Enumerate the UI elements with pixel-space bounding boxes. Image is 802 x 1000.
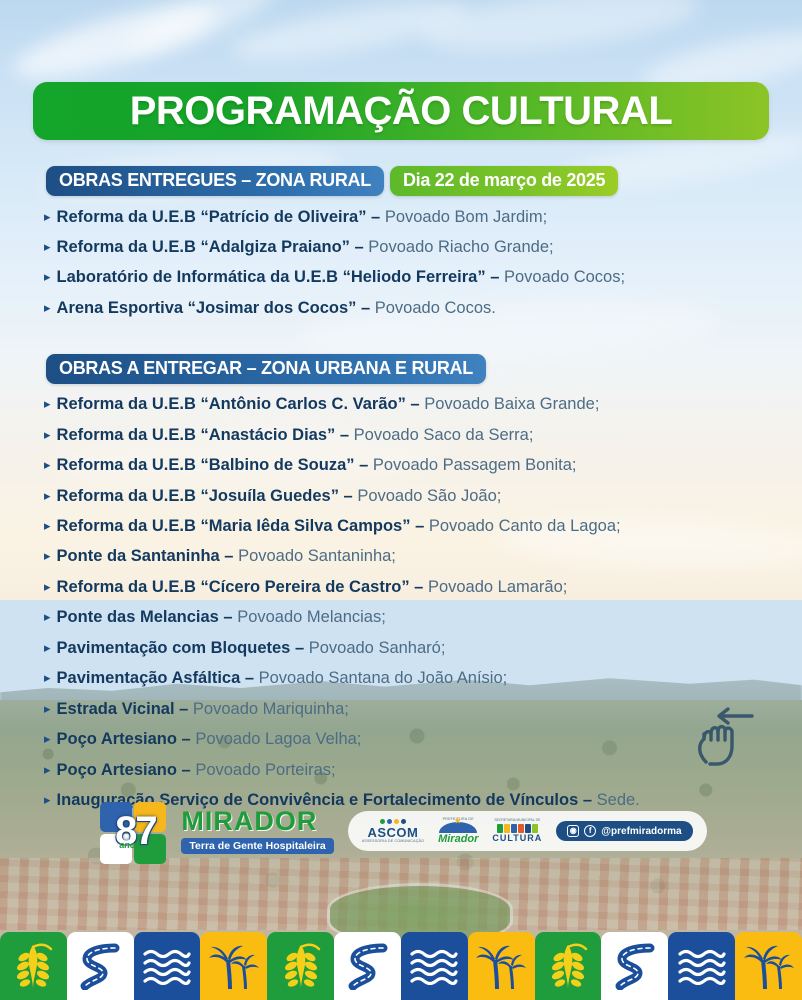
list-item: ▸Pavimentação com Bloquetes – Povoado Sa… xyxy=(44,633,802,663)
list-item-dash: – xyxy=(220,547,238,565)
swoosh-star-icon xyxy=(439,822,477,833)
list-item: ▸Poço Artesiano – Povoado Porteiras; xyxy=(44,755,802,785)
section-header-delivered: OBRAS ENTREGUES – ZONA RURAL Dia 22 de m… xyxy=(0,166,802,196)
list-item: ▸Reforma da U.E.B “Cícero Pereira de Cas… xyxy=(44,572,802,602)
list-item-dash: – xyxy=(339,487,357,505)
list-item-title: Laboratório de Informática da U.E.B “Hel… xyxy=(57,268,486,286)
list-item-location: Povoado Lagoa Velha; xyxy=(195,730,361,748)
road-icon xyxy=(77,942,123,990)
list-item: ▸Arena Esportiva “Josimar dos Cocos” – P… xyxy=(44,293,802,323)
list-item-dash: – xyxy=(356,299,374,317)
bullet-icon: ▸ xyxy=(44,516,51,536)
bottom-icon-stripe xyxy=(0,932,802,1000)
list-item: ▸Reforma da U.E.B “Patrício de Oliveira”… xyxy=(44,202,802,232)
list-item-text: Reforma da U.E.B “Josuíla Guedes” – Povo… xyxy=(57,486,502,507)
list-item-title: Reforma da U.E.B “Patrício de Oliveira” xyxy=(57,208,367,226)
list-item-text: Ponte da Santaninha – Povoado Santaninha… xyxy=(57,546,396,567)
delivered-works-list: ▸Reforma da U.E.B “Patrício de Oliveira”… xyxy=(0,196,802,324)
list-item-text: Laboratório de Informática da U.E.B “Hel… xyxy=(57,267,626,288)
list-item: ▸Reforma da U.E.B “Josuíla Guedes” – Pov… xyxy=(44,481,802,511)
city-tagline: Terra de Gente Hospitaleira xyxy=(181,838,333,854)
list-item: ▸Reforma da U.E.B “Adalgiza Praiano” – P… xyxy=(44,232,802,262)
list-item-title: Reforma da U.E.B “Balbino de Souza” xyxy=(57,456,355,474)
bullet-icon: ▸ xyxy=(44,760,51,780)
list-item-dash: – xyxy=(240,669,258,687)
palm-icon xyxy=(208,942,260,990)
list-item-location: Povoado Passagem Bonita; xyxy=(373,456,577,474)
bullet-icon: ▸ xyxy=(44,607,51,627)
social-handle-text: @prefmiradorma xyxy=(601,826,681,837)
road-icon xyxy=(612,942,658,990)
bullet-icon: ▸ xyxy=(44,298,51,318)
wheat-icon xyxy=(546,941,590,991)
waves-icon xyxy=(677,947,727,985)
ascom-dots-icon xyxy=(380,819,406,824)
bullet-icon: ▸ xyxy=(44,267,51,287)
stripe-tile-road xyxy=(601,932,668,1000)
bullet-icon: ▸ xyxy=(44,729,51,749)
list-item-location: Povoado Porteiras; xyxy=(195,761,335,779)
mirador-city-logo: 87 anos MIRADOR Terra de Gente Hospitale… xyxy=(95,796,333,866)
list-item: ▸Poço Artesiano – Povoado Lagoa Velha; xyxy=(44,725,802,755)
list-item: ▸Ponte da Santaninha – Povoado Santaninh… xyxy=(44,542,802,572)
page-title: PROGRAMAÇÃO CULTURAL xyxy=(130,89,673,134)
cultura-logo: SECRETARIA MUNICIPAL DE CULTURA xyxy=(492,819,542,842)
anniversary-word: anos xyxy=(119,840,140,850)
section-heading-badge: OBRAS ENTREGUES – ZONA RURAL xyxy=(46,166,384,196)
list-item-text: Reforma da U.E.B “Balbino de Souza” – Po… xyxy=(57,455,577,476)
list-item-dash: – xyxy=(335,426,353,444)
list-item-location: Povoado Bom Jardim; xyxy=(385,208,547,226)
list-item-dash: – xyxy=(350,238,368,256)
palm-icon xyxy=(743,942,795,990)
list-item-location: Povoado Canto da Lagoa; xyxy=(429,517,621,535)
list-item-location: Povoado Sanharó; xyxy=(309,639,446,657)
prefeitura-mirador-logo: PREFEITURA DE Mirador xyxy=(438,817,478,845)
ascom-logo: ASCOM ASSESSORIA DE COMUNICAÇÃO xyxy=(362,819,424,844)
list-item-title: Pavimentação Asfáltica xyxy=(57,669,241,687)
list-item-text: Reforma da U.E.B “Anastácio Dias” – Povo… xyxy=(57,425,534,446)
stripe-tile-road xyxy=(334,932,401,1000)
social-handle-badge[interactable]: ◉ f @prefmiradorma xyxy=(556,821,692,841)
list-item-location: Povoado Cocos; xyxy=(504,268,625,286)
stripe-tile-palm xyxy=(735,932,802,1000)
wheat-icon xyxy=(279,941,323,991)
upcoming-works-list: ▸Reforma da U.E.B “Antônio Carlos C. Var… xyxy=(0,384,802,816)
palm-icon xyxy=(475,942,527,990)
list-item: ▸Estrada Vicinal – Povoado Mariquinha; xyxy=(44,694,802,724)
list-item-dash: – xyxy=(406,395,424,413)
partner-logo-strip: ASCOM ASSESSORIA DE COMUNICAÇÃO PREFEITU… xyxy=(348,811,707,851)
title-section: PROGRAMAÇÃO CULTURAL xyxy=(0,0,802,140)
bullet-icon: ▸ xyxy=(44,237,51,257)
list-item-location: Povoado São João; xyxy=(357,487,501,505)
list-item-title: Reforma da U.E.B “Maria Iêda Silva Campo… xyxy=(57,517,411,535)
list-item-dash: – xyxy=(410,578,428,596)
stripe-tile-palm xyxy=(468,932,535,1000)
city-name: MIRADOR xyxy=(181,808,317,835)
list-item-dash: – xyxy=(355,456,373,474)
list-item-text: Reforma da U.E.B “Adalgiza Praiano” – Po… xyxy=(57,237,554,258)
list-item-dash: – xyxy=(177,761,195,779)
list-item-location: Povoado Santaninha; xyxy=(238,547,396,565)
bullet-icon: ▸ xyxy=(44,577,51,597)
bullet-icon: ▸ xyxy=(44,425,51,445)
swipe-left-hand-icon xyxy=(690,706,764,768)
list-item-title: Ponte das Melancias xyxy=(57,608,219,626)
section-heading-badge: OBRAS A ENTREGAR – ZONA URBANA E RURAL xyxy=(46,354,486,384)
bullet-icon: ▸ xyxy=(44,699,51,719)
list-item-title: Poço Artesiano xyxy=(57,730,177,748)
stripe-tile-palm xyxy=(200,932,267,1000)
cultura-subtitle: SECRETARIA MUNICIPAL DE xyxy=(494,819,540,822)
bullet-icon: ▸ xyxy=(44,486,51,506)
list-item: ▸Ponte das Melancias – Povoado Melancias… xyxy=(44,603,802,633)
bullet-icon: ▸ xyxy=(44,455,51,475)
list-item-title: Reforma da U.E.B “Cícero Pereira de Cast… xyxy=(57,578,410,596)
bullet-icon: ▸ xyxy=(44,638,51,658)
list-item-location: Povoado Lamarão; xyxy=(428,578,567,596)
list-item-text: Estrada Vicinal – Povoado Mariquinha; xyxy=(57,699,349,720)
list-item-location: Povoado Riacho Grande; xyxy=(368,238,553,256)
stripe-tile-waves xyxy=(401,932,468,1000)
list-item-text: Reforma da U.E.B “Cícero Pereira de Cast… xyxy=(57,577,568,598)
list-item-title: Reforma da U.E.B “Anastácio Dias” xyxy=(57,426,336,444)
cultura-tiles-icon xyxy=(497,824,538,833)
date-badge: Dia 22 de março de 2025 xyxy=(390,166,618,196)
bullet-icon: ▸ xyxy=(44,546,51,566)
bullet-icon: ▸ xyxy=(44,207,51,227)
list-item-text: Pavimentação Asfáltica – Povoado Santana… xyxy=(57,668,508,689)
ascom-label: ASCOM xyxy=(367,826,418,839)
list-item-location: Povoado Santana do João Anísio; xyxy=(259,669,508,687)
list-item: ▸Laboratório de Informática da U.E.B “He… xyxy=(44,263,802,293)
anniversary-badge: 87 anos xyxy=(95,796,175,866)
cultura-label: CULTURA xyxy=(492,834,542,843)
list-item-dash: – xyxy=(177,730,195,748)
list-item-dash: – xyxy=(486,268,504,286)
list-item-dash: – xyxy=(219,608,237,626)
list-item-title: Poço Artesiano xyxy=(57,761,177,779)
list-item-location: Povoado Cocos. xyxy=(375,299,496,317)
stripe-tile-waves xyxy=(668,932,735,1000)
list-item-text: Pavimentação com Bloquetes – Povoado San… xyxy=(57,638,446,659)
list-item-title: Estrada Vicinal xyxy=(57,700,175,718)
list-item-title: Reforma da U.E.B “Adalgiza Praiano” xyxy=(57,238,350,256)
stripe-tile-wheat xyxy=(267,932,334,1000)
footer-logos: 87 anos MIRADOR Terra de Gente Hospitale… xyxy=(0,792,802,870)
waves-icon xyxy=(142,947,192,985)
city-name-block: MIRADOR Terra de Gente Hospitaleira xyxy=(181,808,333,854)
stripe-tile-wheat xyxy=(0,932,67,1000)
list-item: ▸Pavimentação Asfáltica – Povoado Santan… xyxy=(44,664,802,694)
stripe-tile-waves xyxy=(134,932,201,1000)
facebook-icon[interactable]: f xyxy=(584,825,596,837)
list-item-text: Reforma da U.E.B “Maria Iêda Silva Campo… xyxy=(57,516,621,537)
list-item-dash: – xyxy=(290,639,308,657)
instagram-icon[interactable]: ◉ xyxy=(567,825,579,837)
list-item-location: Povoado Baixa Grande; xyxy=(424,395,599,413)
list-item-text: Poço Artesiano – Povoado Porteiras; xyxy=(57,760,336,781)
list-item-title: Pavimentação com Bloquetes xyxy=(57,639,291,657)
list-item-text: Reforma da U.E.B “Antônio Carlos C. Varã… xyxy=(57,394,600,415)
list-item-title: Reforma da U.E.B “Josuíla Guedes” xyxy=(57,487,339,505)
list-item-text: Ponte das Melancias – Povoado Melancias; xyxy=(57,607,386,628)
section-header-upcoming: OBRAS A ENTREGAR – ZONA URBANA E RURAL xyxy=(0,354,802,384)
list-item-location: Povoado Saco da Serra; xyxy=(354,426,534,444)
list-item-text: Poço Artesiano – Povoado Lagoa Velha; xyxy=(57,729,362,750)
list-item: ▸Reforma da U.E.B “Antônio Carlos C. Var… xyxy=(44,390,802,420)
ascom-subtitle: ASSESSORIA DE COMUNICAÇÃO xyxy=(362,840,424,844)
list-item-location: Povoado Melancias; xyxy=(237,608,386,626)
list-item: ▸Reforma da U.E.B “Balbino de Souza” – P… xyxy=(44,451,802,481)
page-title-bar: PROGRAMAÇÃO CULTURAL xyxy=(33,82,769,140)
list-item: ▸Reforma da U.E.B “Maria Iêda Silva Camp… xyxy=(44,512,802,542)
stripe-tile-road xyxy=(67,932,134,1000)
list-item-text: Arena Esportiva “Josimar dos Cocos” – Po… xyxy=(57,298,496,319)
list-item-dash: – xyxy=(175,700,193,718)
stripe-tile-wheat xyxy=(535,932,602,1000)
list-item-location: Povoado Mariquinha; xyxy=(193,700,349,718)
bullet-icon: ▸ xyxy=(44,668,51,688)
bullet-icon: ▸ xyxy=(44,394,51,414)
poster: PROGRAMAÇÃO CULTURAL OBRAS ENTREGUES – Z… xyxy=(0,0,802,1000)
list-item: ▸Reforma da U.E.B “Anastácio Dias” – Pov… xyxy=(44,420,802,450)
road-icon xyxy=(345,942,391,990)
waves-icon xyxy=(409,947,459,985)
prefeitura-label: Mirador xyxy=(438,834,478,845)
list-item-dash: – xyxy=(366,208,384,226)
list-item-dash: – xyxy=(410,517,428,535)
list-item-text: Reforma da U.E.B “Patrício de Oliveira” … xyxy=(57,207,548,228)
list-item-title: Ponte da Santaninha xyxy=(57,547,220,565)
list-item-title: Arena Esportiva “Josimar dos Cocos” xyxy=(57,299,357,317)
wheat-icon xyxy=(11,941,55,991)
list-item-title: Reforma da U.E.B “Antônio Carlos C. Varã… xyxy=(57,395,406,413)
